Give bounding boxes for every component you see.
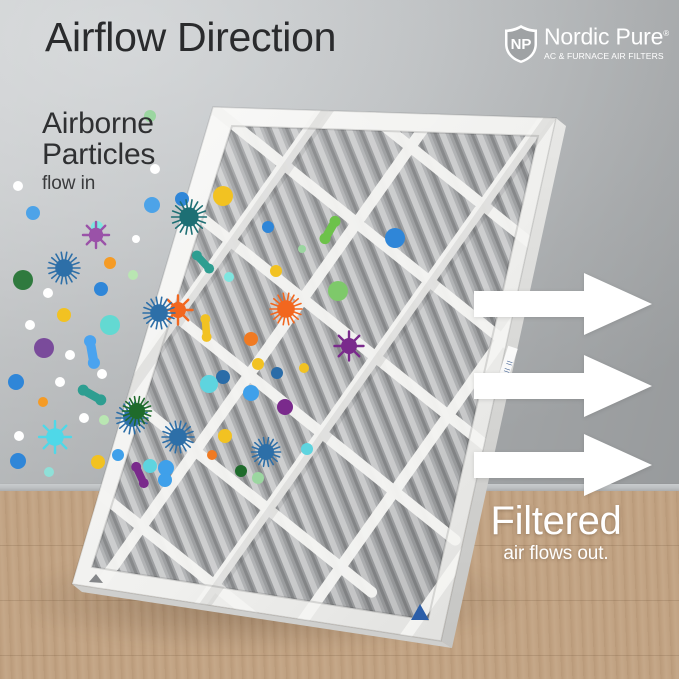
particle [10, 453, 26, 469]
particle [143, 459, 157, 473]
particle [328, 281, 348, 301]
airborne-caption-line3: flow in [42, 173, 155, 195]
particle [262, 221, 274, 233]
particle [100, 315, 120, 335]
particle [144, 197, 160, 213]
particle [218, 429, 232, 443]
particle [299, 363, 309, 373]
particle [97, 369, 107, 379]
particle [252, 358, 264, 370]
particle [48, 252, 80, 283]
particle [14, 431, 24, 441]
particle [301, 443, 313, 455]
particle [8, 374, 24, 390]
particle [84, 335, 100, 369]
particle [57, 308, 71, 322]
particle [207, 450, 217, 460]
logo-registered-mark: ® [663, 29, 669, 38]
particle [13, 181, 23, 191]
particle [43, 288, 53, 298]
particle [38, 397, 48, 407]
particle [83, 222, 109, 248]
airflow-arrow-3 [474, 434, 652, 496]
particle [216, 370, 230, 384]
logo-wordmark: Nordic Pure® AC & FURNACE AIR FILTERS [544, 21, 669, 61]
particle [244, 332, 258, 346]
particle [94, 282, 108, 296]
filter-media-area [0, 0, 679, 679]
particle [104, 257, 116, 269]
particle [78, 385, 106, 406]
particle [235, 465, 247, 477]
particle [385, 228, 405, 248]
shield-icon: NP [503, 24, 539, 64]
filtered-caption-line1: Filtered [461, 500, 651, 542]
particle [277, 399, 293, 415]
logo-tagline: AC & FURNACE AIR FILTERS [544, 51, 669, 61]
page-title: Airflow Direction [45, 14, 336, 61]
particle [200, 375, 218, 393]
particle [26, 206, 40, 220]
particle [224, 272, 234, 282]
brand-logo: NP Nordic Pure® AC & FURNACE AIR FILTERS [503, 22, 663, 68]
particle [213, 186, 233, 206]
airborne-caption-line2: Particles [42, 139, 155, 170]
particle [128, 270, 138, 280]
particle [298, 245, 306, 253]
particle [132, 235, 140, 243]
particle [270, 265, 282, 277]
particle [252, 472, 264, 484]
airborne-caption: Airborne Particles flow in [42, 108, 155, 195]
particle [44, 467, 54, 477]
particle [91, 455, 105, 469]
airborne-caption-line1: Airborne [42, 108, 155, 139]
product-diagram: ||| ||| || Airflow Direction Airborne Pa… [0, 0, 679, 679]
particle [65, 350, 75, 360]
logo-brand-name: Nordic Pure® [544, 21, 669, 50]
airflow-arrow-1 [474, 273, 652, 335]
particle [34, 338, 54, 358]
particle [39, 421, 71, 453]
particle [112, 449, 124, 461]
particle [13, 270, 33, 290]
air-filter-scene: ||| ||| || [0, 0, 679, 679]
particle [335, 332, 364, 361]
filtered-caption-line2: air flows out. [461, 543, 651, 565]
particle [158, 473, 172, 487]
particle [243, 385, 259, 401]
filtered-caption: Filtered air flows out. [461, 500, 651, 565]
particle [271, 367, 283, 379]
airflow-arrow-2 [474, 355, 652, 417]
particle [25, 320, 35, 330]
logo-monogram: NP [511, 36, 532, 53]
particle [99, 415, 109, 425]
particle [55, 377, 65, 387]
particle [79, 413, 89, 423]
